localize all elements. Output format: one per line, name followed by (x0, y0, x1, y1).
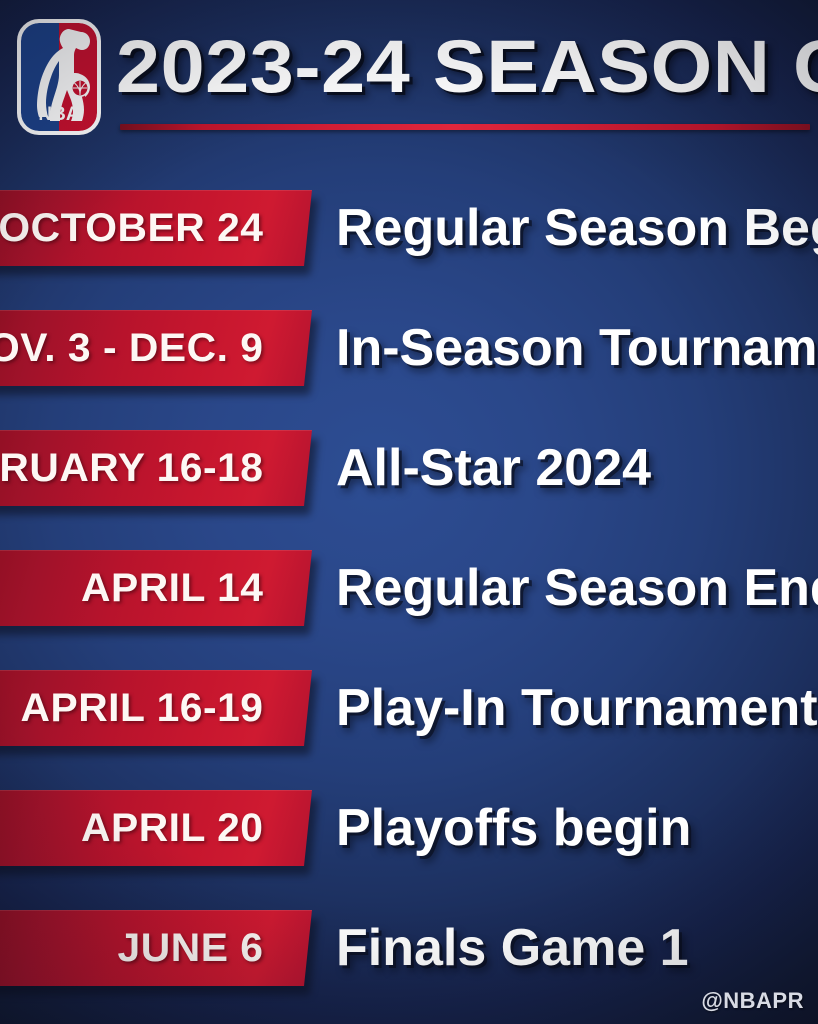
event-label: Regular Season Ends (336, 558, 818, 618)
date-badge-label: APRIL 16-19 (0, 670, 290, 746)
event-label: In-Season Tournament (336, 318, 818, 378)
date-badge: NOV. 3 - DEC. 9 (0, 310, 316, 386)
nba-logo-wordmark: NBA (38, 104, 79, 125)
calendar-row: APRIL 16-19 Play-In Tournament (0, 648, 818, 768)
date-badge: OCTOBER 24 (0, 190, 316, 266)
date-badge-label: JUNE 6 (0, 910, 290, 986)
event-label: Finals Game 1 (336, 918, 818, 978)
date-badge-label: NOV. 3 - DEC. 9 (0, 310, 290, 386)
date-badge: APRIL 14 (0, 550, 316, 626)
nba-logo-icon: NBA (17, 19, 101, 135)
date-badge: FEBRUARY 16-18 (0, 430, 316, 506)
event-label: Playoffs begin (336, 798, 818, 858)
date-badge-label: APRIL 14 (0, 550, 290, 626)
date-badge-label: APRIL 20 (0, 790, 290, 866)
calendar-row: FEBRUARY 16-18 All-Star 2024 (0, 408, 818, 528)
event-label: Regular Season Begins (336, 198, 818, 258)
calendar-row: NOV. 3 - DEC. 9 In-Season Tournament (0, 288, 818, 408)
calendar-row: JUNE 6 Finals Game 1 (0, 888, 818, 1008)
calendar-rows-list: OCTOBER 24 Regular Season Begins NOV. 3 … (0, 168, 818, 1008)
title-underline-rule (120, 124, 810, 130)
watermark: @NBAPR (701, 988, 804, 1014)
event-label: Play-In Tournament (336, 678, 818, 738)
date-badge-label: OCTOBER 24 (0, 190, 290, 266)
season-calendar-poster: NBA 2023-24 SEASON CALENDAR OCTOBER 24 R… (0, 0, 818, 1024)
date-badge: APRIL 16-19 (0, 670, 316, 746)
date-badge: APRIL 20 (0, 790, 316, 866)
page-title: 2023-24 SEASON CALENDAR (116, 24, 818, 110)
calendar-row: OCTOBER 24 Regular Season Begins (0, 168, 818, 288)
calendar-row: APRIL 20 Playoffs begin (0, 768, 818, 888)
poster-header: NBA 2023-24 SEASON CALENDAR (0, 0, 818, 168)
date-badge-label: FEBRUARY 16-18 (0, 430, 290, 506)
calendar-row: APRIL 14 Regular Season Ends (0, 528, 818, 648)
date-badge: JUNE 6 (0, 910, 316, 986)
event-label: All-Star 2024 (336, 438, 818, 498)
